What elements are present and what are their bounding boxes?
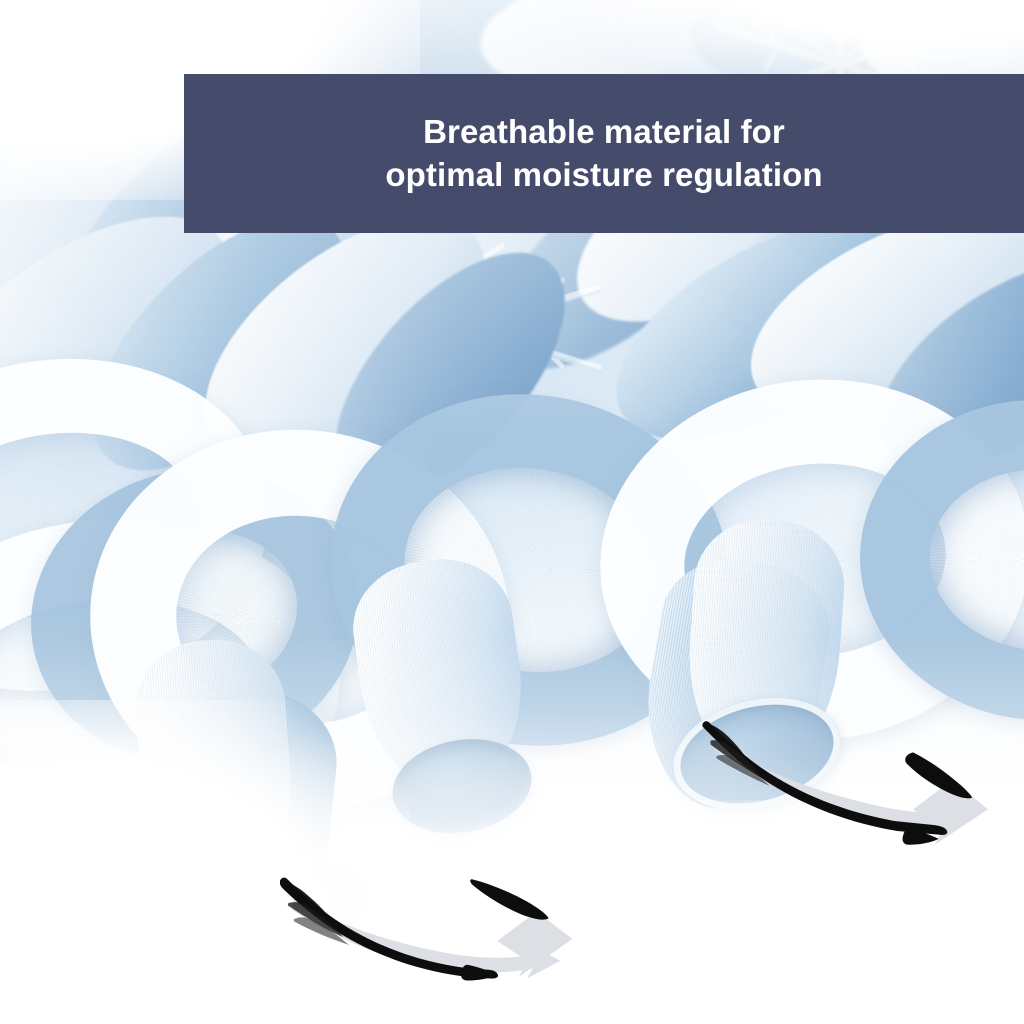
product-feature-image: Breathable material for optimal moisture… [0, 0, 1024, 1024]
headline-line-1: Breathable material for [423, 111, 785, 153]
headline-line-2: optimal moisture regulation [385, 154, 822, 196]
loop-striation [924, 463, 1024, 658]
headline-banner: Breathable material for optimal moisture… [184, 74, 1024, 233]
